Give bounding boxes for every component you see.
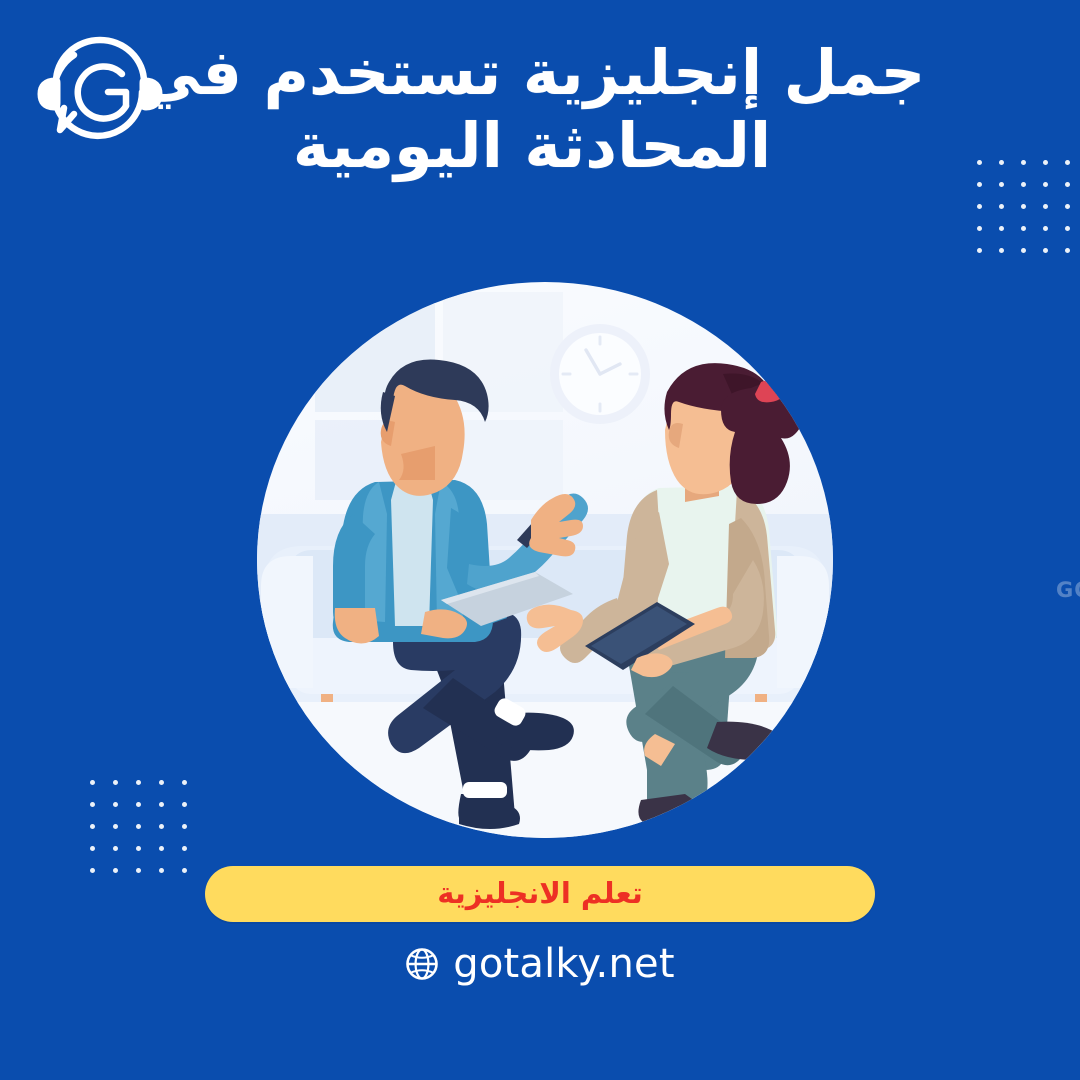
poster-canvas: جمل إنجليزية تستخدم في المحادثة اليومية … xyxy=(0,0,1080,1080)
dot-grid-bottom-left xyxy=(72,780,187,890)
edge-watermark: GO xyxy=(1056,578,1080,602)
dot-grid-top-right xyxy=(960,160,1070,270)
title-line-1: جمل إنجليزية تستخدم في xyxy=(102,36,962,109)
title-line-2: المحادثة اليومية xyxy=(102,109,962,182)
cta-label: تعلم الانجليزية xyxy=(437,879,642,908)
globe-icon xyxy=(405,947,439,981)
conversation-illustration xyxy=(255,282,835,842)
website-url-row[interactable]: gotalky.net xyxy=(0,944,1080,984)
website-url-text: gotalky.net xyxy=(453,944,674,984)
poster-title: جمل إنجليزية تستخدم في المحادثة اليومية xyxy=(102,36,962,182)
learn-english-cta-button[interactable]: تعلم الانجليزية xyxy=(205,866,875,922)
